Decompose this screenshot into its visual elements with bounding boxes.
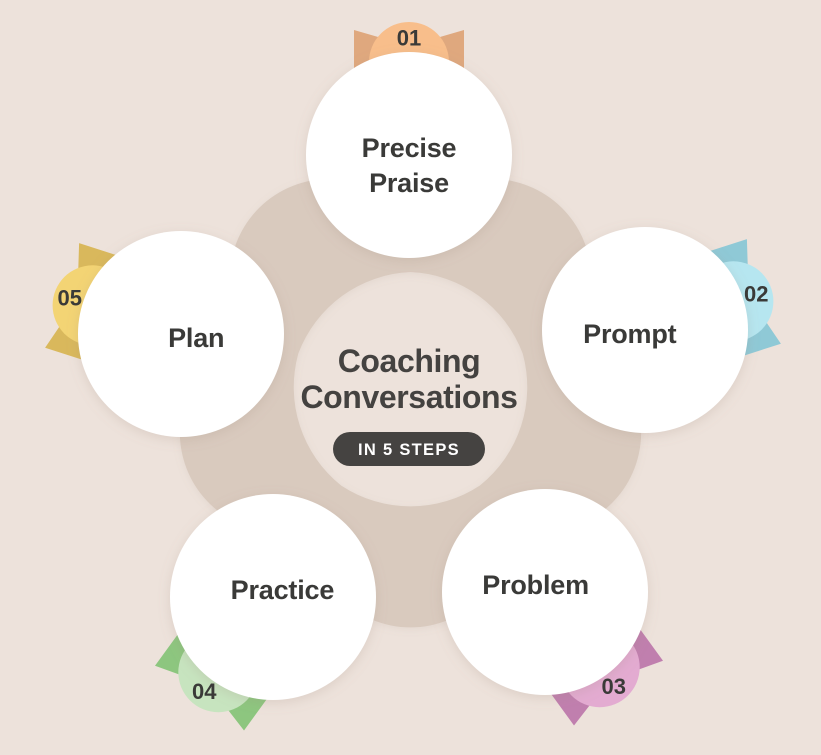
center-block: Coaching Conversations IN 5 STEPS	[300, 343, 517, 466]
step-node-04[interactable]: 04Practice	[155, 494, 376, 731]
step-number-04: 04	[192, 679, 217, 704]
center-title-line2: Conversations	[300, 379, 517, 415]
step-label-01: Praise	[369, 168, 449, 198]
step-label-01: Precise	[362, 133, 457, 163]
step-node-02[interactable]: 02Prompt	[542, 227, 781, 433]
step-node-01[interactable]: 01PrecisePraise	[306, 22, 512, 258]
step-node-03[interactable]: 03Problem	[442, 489, 663, 726]
center-pill-label: IN 5 STEPS	[358, 441, 460, 459]
step-label-05: Plan	[168, 323, 224, 353]
step-node-05[interactable]: 05Plan	[45, 231, 284, 437]
step-number-03: 03	[602, 674, 626, 699]
step-label-02: Prompt	[583, 319, 677, 349]
step-label-03: Problem	[482, 570, 589, 600]
step-number-05: 05	[57, 285, 81, 310]
cycle-diagram: 01PrecisePraise02Prompt03Problem04Practi…	[0, 0, 821, 755]
step-number-02: 02	[744, 281, 768, 306]
step-label-04: Practice	[231, 575, 335, 605]
step-number-01: 01	[397, 26, 421, 51]
center-title-line1: Coaching	[338, 343, 481, 379]
infographic-canvas: 01PrecisePraise02Prompt03Problem04Practi…	[0, 0, 821, 755]
